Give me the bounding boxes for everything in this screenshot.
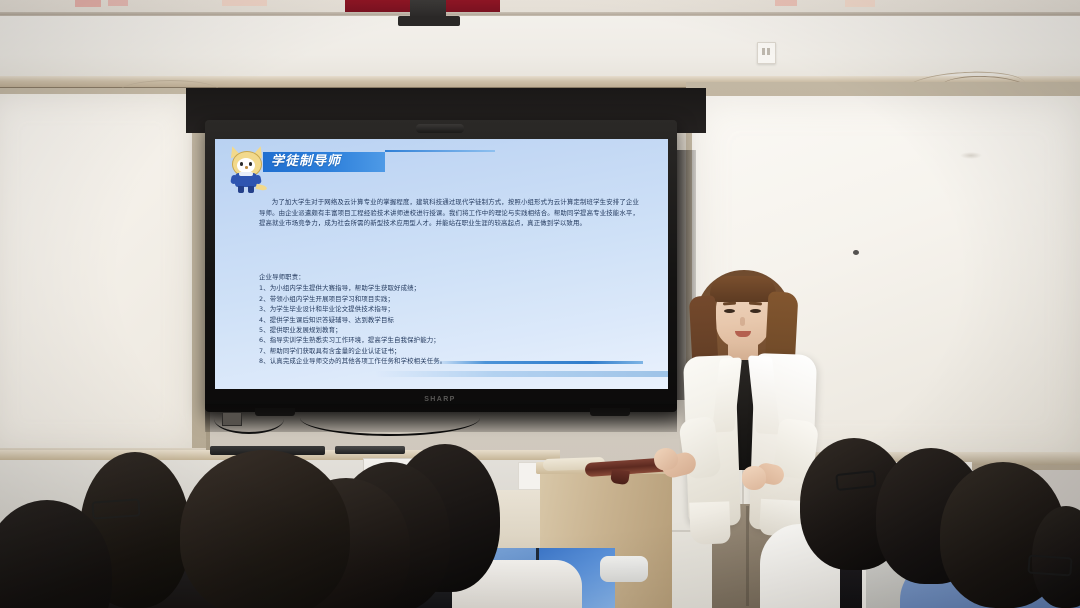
list-item: 4、提供学生课后知识答疑辅导、达到教学目标 bbox=[259, 315, 639, 325]
slide-paragraph: 为了加大学生对于网络及云计算专业的掌握程度，建筑科技通过现代学徒制方式，按照小组… bbox=[259, 197, 639, 229]
instructor-hair-fringe bbox=[710, 276, 776, 302]
slide-list: 1、为小组内学生提供大赛指导，帮助学生获取好成绩； 2、带领小组内学生开展项目学… bbox=[259, 283, 639, 366]
student-glasses bbox=[91, 498, 140, 519]
mascot-nose bbox=[245, 166, 248, 169]
instructor-eye-left bbox=[724, 309, 735, 313]
slide-title: 学徒制导师 bbox=[271, 153, 381, 171]
display-camera-bar bbox=[416, 124, 464, 133]
display-cable-loop-2 bbox=[300, 400, 480, 436]
banner-decor-3 bbox=[222, 0, 267, 6]
slide-title-rule bbox=[385, 150, 495, 152]
banner-decor-1 bbox=[75, 0, 101, 7]
instructor-nose bbox=[740, 317, 745, 326]
slide-accent-line bbox=[433, 361, 643, 364]
list-item: 6、指导实训学生熟悉实习工作环境，提高学生自我保护能力； bbox=[259, 335, 639, 345]
wall-outlet[interactable] bbox=[757, 42, 776, 64]
list-item: 3、为学生毕业设计和毕业论文提供技术指导； bbox=[259, 304, 639, 314]
instructor-hand-right bbox=[742, 466, 766, 490]
display-port-panel[interactable] bbox=[222, 412, 242, 426]
mascot-tail bbox=[256, 184, 268, 191]
list-item: 1、为小组内学生提供大赛指导，帮助学生获取好成绩； bbox=[259, 283, 639, 293]
left-whiteboard bbox=[0, 94, 192, 451]
student-face-mask bbox=[600, 556, 648, 582]
list-item: 2、带领小组内学生开展项目学习和项目实践； bbox=[259, 294, 639, 304]
wall-surface bbox=[0, 16, 1080, 80]
student-head bbox=[180, 450, 350, 608]
lectern-strap-tip bbox=[610, 469, 630, 485]
banner-decor-5 bbox=[845, 0, 875, 7]
slide-accent-band bbox=[375, 371, 668, 377]
instructor-eye-right bbox=[750, 309, 761, 313]
mascot-collar bbox=[239, 172, 253, 176]
slide-list-heading: 企业导师职责： bbox=[259, 272, 639, 282]
slide-responsibilities: 企业导师职责： 1、为小组内学生提供大赛指导，帮助学生获取好成绩； 2、带领小组… bbox=[259, 272, 639, 367]
power-strip-2[interactable] bbox=[335, 446, 405, 454]
student-glasses bbox=[1027, 554, 1072, 576]
camera-lens-icon bbox=[853, 250, 859, 255]
fox-mascot-icon bbox=[227, 145, 267, 193]
display-mount-plate bbox=[398, 16, 460, 26]
mascot-leg-right bbox=[248, 186, 254, 193]
classroom-screenshot: 学徒制导师 为了加大学生对于网络及云计算专业的掌握程度，建筑科技通过现代学徒制方… bbox=[0, 0, 1080, 608]
banner-decor-4 bbox=[775, 0, 797, 6]
mascot-eye-right bbox=[249, 162, 252, 166]
instructor-blazer-hem-left bbox=[689, 501, 730, 544]
slide-paragraph-text: 为了加大学生对于网络及云计算专业的掌握程度，建筑科技通过现代学徒制方式，按照小组… bbox=[259, 197, 639, 229]
presentation-slide[interactable]: 学徒制导师 为了加大学生对于网络及云计算专业的掌握程度，建筑科技通过现代学徒制方… bbox=[215, 139, 668, 389]
mascot-leg-left bbox=[238, 186, 244, 193]
list-item: 7、帮助同学们获取具有含金量的企业认证证书； bbox=[259, 346, 639, 356]
banner-decor-2 bbox=[108, 0, 128, 6]
whiteboard-smudge bbox=[960, 152, 982, 159]
list-item: 5、提供职业发展规划教育； bbox=[259, 325, 639, 335]
mascot-eye-left bbox=[240, 162, 243, 166]
